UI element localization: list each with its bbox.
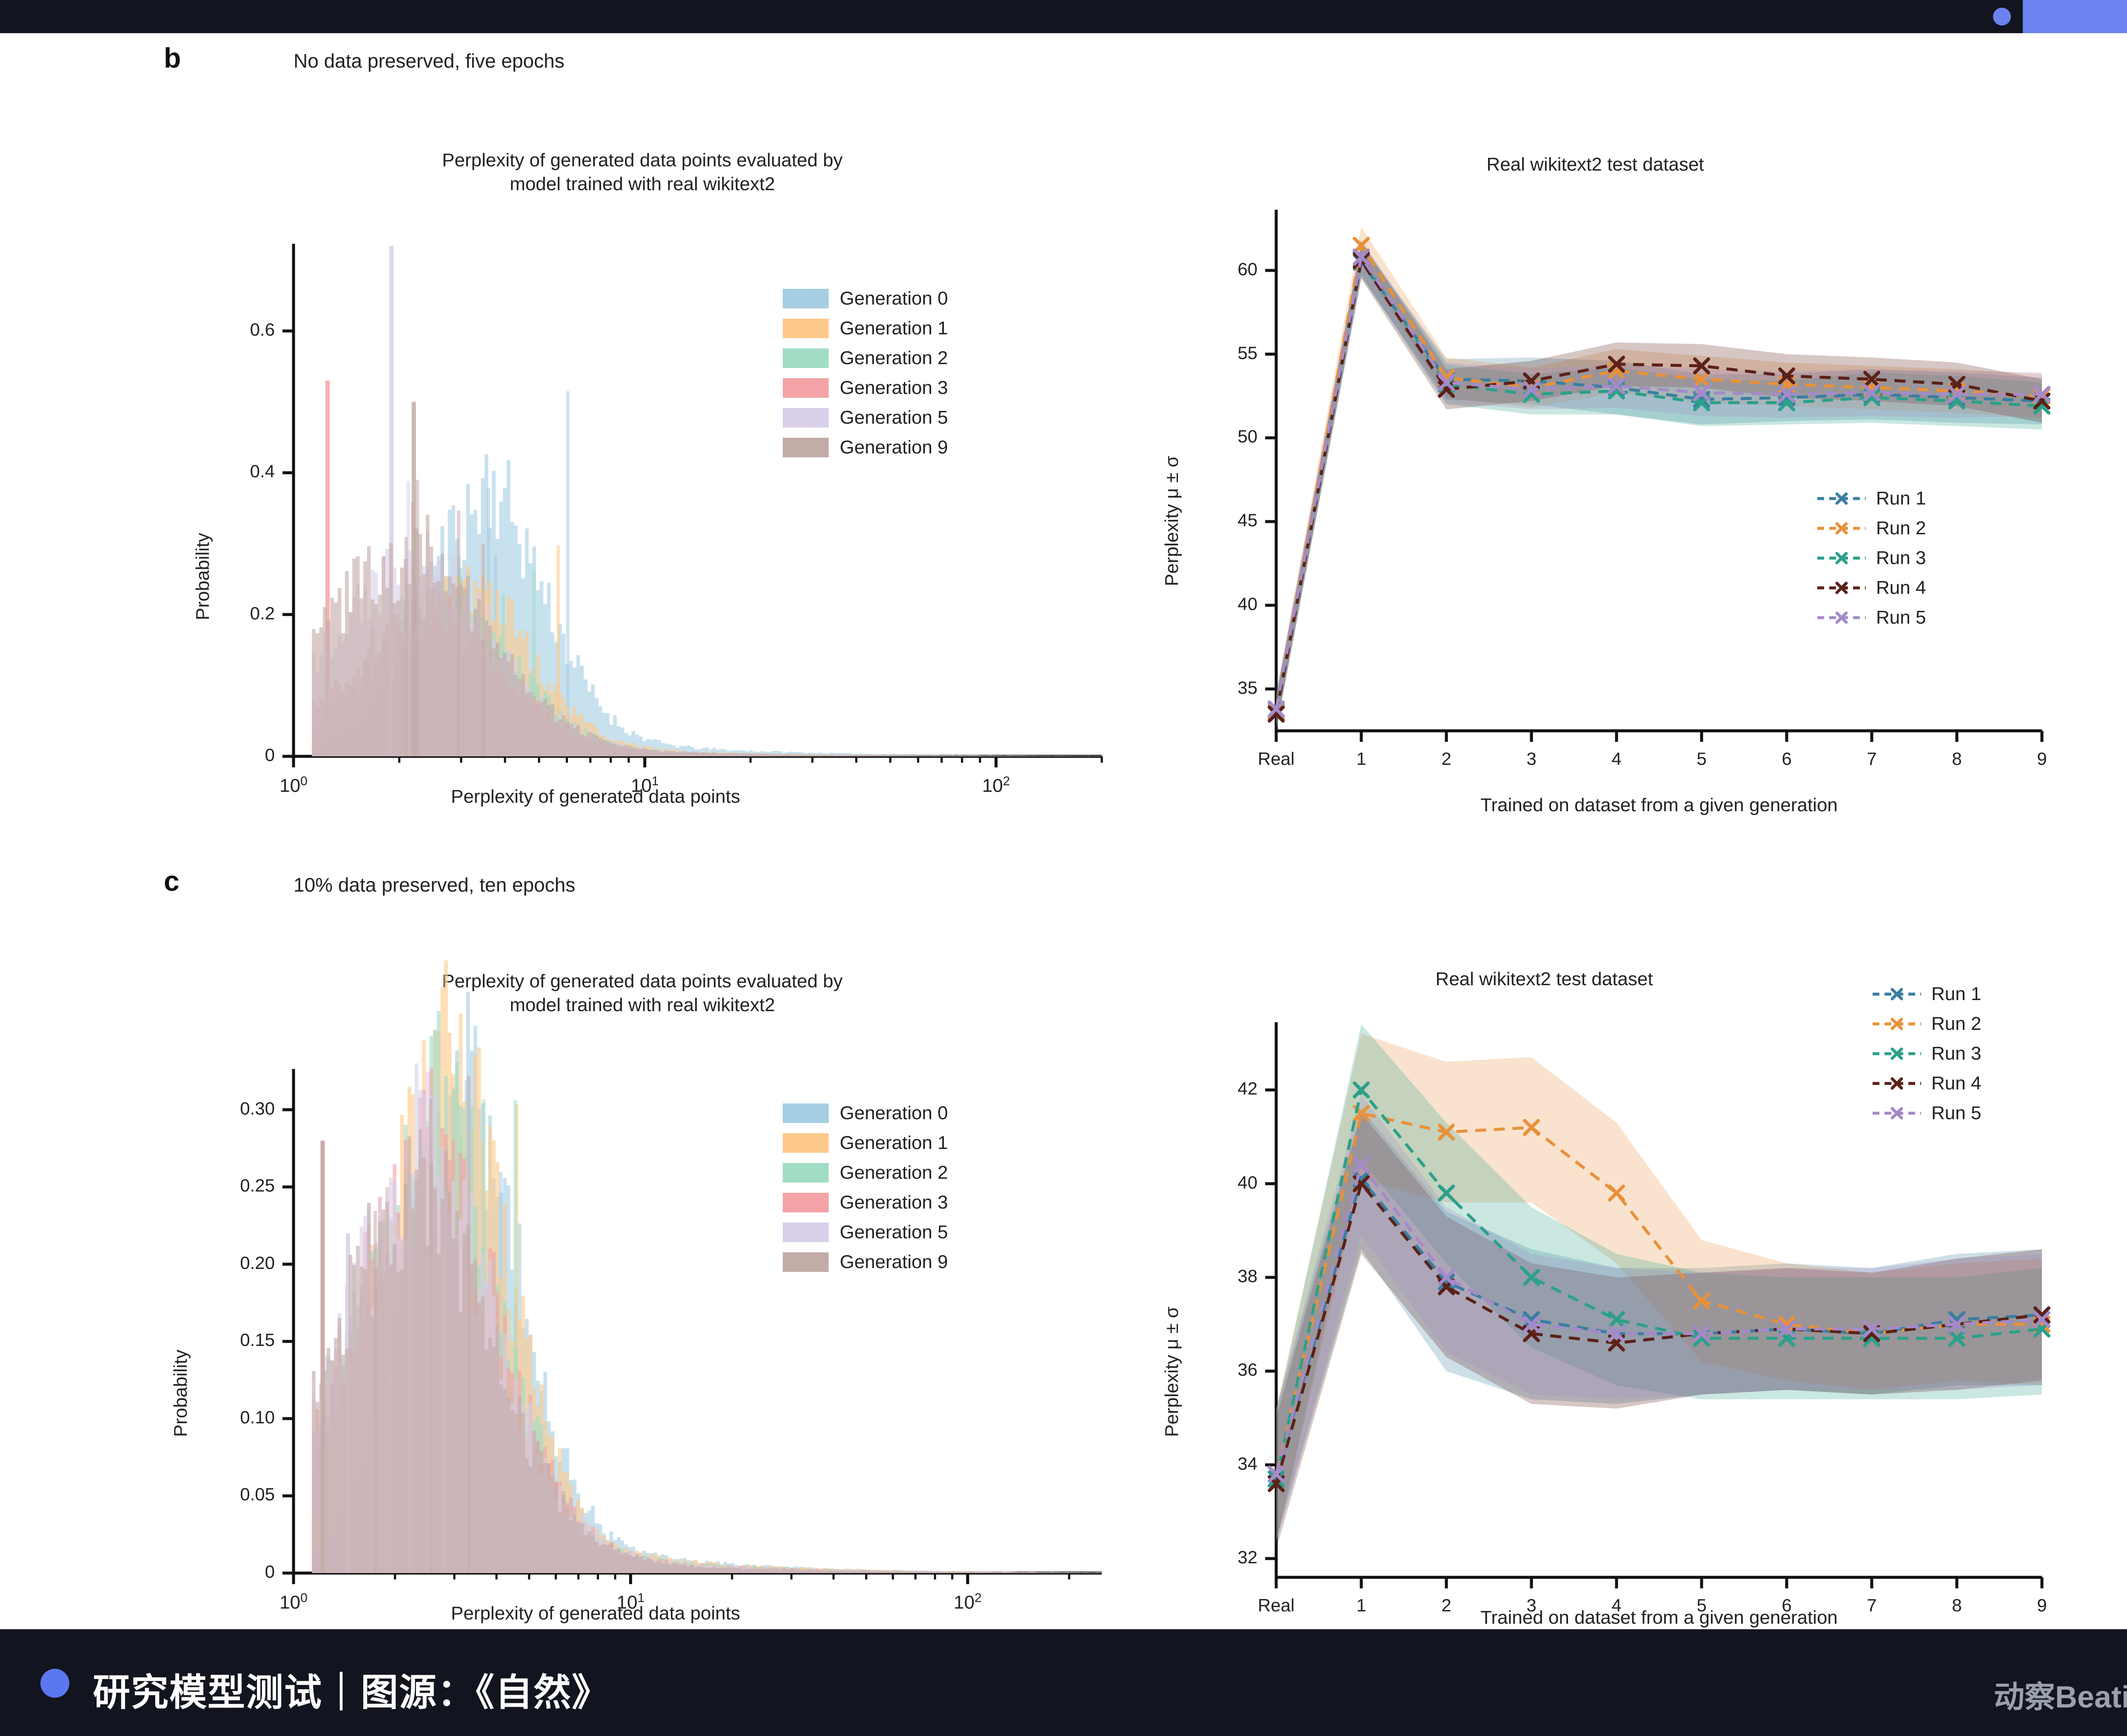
line-chart-svg [1276, 212, 2042, 731]
x-tick-label: 6 [1740, 749, 1833, 769]
panel-b-caption: No data preserved, five epochs [294, 49, 565, 72]
legend-item-run: Run 3 [1872, 1041, 1981, 1066]
y-axis-label-c-left: Probability [170, 1350, 191, 1437]
legend-label: Run 4 [1931, 1073, 1981, 1094]
legend-item-run: Run 2 [1816, 516, 1926, 541]
x-tick-label: 3 [1485, 749, 1578, 769]
legend-item-generation: Generation 0 [783, 286, 948, 311]
legend-item-generation: Generation 2 [783, 1160, 948, 1185]
legend-generations-b-left: Generation 0Generation 1Generation 2Gene… [783, 286, 948, 465]
y-tick-label: 32 [1164, 1547, 1257, 1568]
legend-label: Generation 9 [840, 437, 948, 458]
y-tick-label: 0.2 [164, 603, 275, 624]
y-tick-label: 35 [1164, 678, 1257, 698]
x-tick-label: 102 [921, 1591, 1015, 1613]
y-tick-label: 0.6 [164, 319, 275, 340]
y-tick-label: 0 [164, 745, 275, 765]
legend-swatch-icon [783, 1163, 829, 1183]
panel-letter-c: c [164, 865, 180, 897]
legend-label: Generation 3 [840, 1192, 948, 1213]
x-tick-label: 9 [1995, 749, 2089, 769]
histogram-c-left: 00.050.100.150.200.250.30100101102 [294, 1071, 1102, 1573]
y-tick-label: 50 [1164, 426, 1257, 447]
legend-swatch-icon [783, 1103, 829, 1123]
legend-item-generation: Generation 3 [783, 1190, 948, 1215]
y-tick-label: 55 [1164, 343, 1257, 363]
bottom-banner: 研究模型测试｜图源：《自然》 动察Beating [0, 1629, 2127, 1736]
legend-line-marker-icon [1872, 1014, 1922, 1034]
x-tick-label: Real [1229, 749, 1323, 769]
y-axis-label-b-left: Probability [192, 533, 214, 620]
legend-item-run: Run 1 [1816, 486, 1926, 511]
legend-label: Generation 0 [840, 1103, 948, 1124]
legend-swatch-icon [783, 1223, 829, 1242]
figure-canvas: b No data preserved, five epochs Perplex… [0, 33, 2127, 1629]
y-tick-label: 0.4 [164, 461, 275, 482]
x-tick-label: 2 [1400, 749, 1493, 769]
y-tick-label: 0.25 [164, 1175, 275, 1196]
y-tick-label: 0.15 [164, 1330, 275, 1350]
legend-label: Run 5 [1876, 607, 1926, 628]
legend-item-generation: Generation 2 [783, 346, 948, 371]
legend-item-run: Run 2 [1872, 1012, 1981, 1036]
legend-runs-c-right: Run 1Run 2Run 3Run 4Run 5 [1872, 982, 1981, 1131]
y-axis-label-b-right: Perplexity μ ± σ [1161, 456, 1183, 586]
x-tick-label: 1 [1314, 749, 1408, 769]
legend-label: Generation 1 [840, 318, 948, 339]
y-tick-label: 38 [1164, 1266, 1257, 1286]
legend-swatch-icon [783, 348, 829, 368]
legend-item-generation: Generation 5 [783, 1220, 948, 1245]
legend-label: Generation 9 [840, 1251, 948, 1273]
legend-line-marker-icon [1816, 608, 1867, 627]
chart-title-c-left-line2: model trained with real wikitext2 [264, 993, 1021, 1017]
legend-label: Run 4 [1876, 577, 1926, 599]
x-tick-label: 7 [1825, 749, 1919, 769]
panel-c-caption: 10% data preserved, ten epochs [294, 873, 575, 896]
x-tick-label: 8 [1910, 749, 2004, 769]
legend-swatch-icon [783, 1193, 829, 1212]
top-bar-accent-block [2023, 0, 2127, 33]
x-tick-label: 4 [1570, 749, 1663, 769]
legend-item-run: Run 4 [1816, 576, 1926, 600]
legend-label: Run 3 [1876, 547, 1926, 569]
top-bar [0, 0, 2127, 33]
legend-label: Generation 5 [840, 1222, 948, 1243]
legend-label: Run 5 [1931, 1103, 1981, 1124]
legend-item-generation: Generation 9 [783, 1250, 948, 1274]
legend-item-generation: Generation 0 [783, 1101, 948, 1126]
legend-item-generation: Generation 9 [783, 435, 948, 460]
chart-title-c-left-line1: Perplexity of generated data points eval… [264, 969, 1021, 993]
legend-label: Generation 5 [840, 407, 948, 428]
legend-item-generation: Generation 5 [783, 405, 948, 430]
legend-label: Generation 3 [840, 377, 948, 399]
legend-swatch-icon [783, 1133, 829, 1153]
legend-label: Run 3 [1931, 1043, 1981, 1064]
histogram-b-left: 00.20.40.6100101102 [294, 246, 1102, 756]
y-tick-label: 0 [164, 1562, 275, 1582]
legend-line-marker-icon [1816, 489, 1867, 508]
legend-item-run: Run 5 [1816, 605, 1926, 630]
legend-item-run: Run 4 [1872, 1071, 1981, 1096]
legend-line-marker-icon [1816, 548, 1867, 568]
x-axis-label-b-right: Trained on dataset from a given generati… [1276, 795, 2042, 816]
panel-letter-b: b [164, 42, 181, 74]
legend-label: Run 1 [1931, 983, 1981, 1005]
legend-swatch-icon [783, 378, 829, 398]
legend-line-marker-icon [1816, 519, 1867, 538]
legend-line-marker-icon [1872, 1103, 1922, 1123]
legend-swatch-icon [783, 289, 829, 308]
legend-label: Generation 0 [840, 288, 948, 309]
x-tick-label: 102 [949, 774, 1043, 797]
legend-label: Run 2 [1876, 518, 1926, 539]
x-axis-label-c-right: Trained on dataset from a given generati… [1276, 1607, 2042, 1628]
banner-dot-icon [40, 1669, 69, 1698]
legend-runs-b-right: Run 1Run 2Run 3Run 4Run 5 [1816, 486, 1926, 635]
legend-item-generation: Generation 1 [783, 1131, 948, 1155]
y-tick-label: 42 [1164, 1078, 1257, 1099]
legend-item-generation: Generation 1 [783, 316, 948, 341]
legend-item-run: Run 5 [1872, 1101, 1981, 1126]
legend-swatch-icon [783, 408, 829, 428]
histogram-svg [294, 1071, 1102, 1573]
chart-title-c-right: Real wikitext2 test dataset [1225, 967, 1863, 991]
x-tick-label: 5 [1655, 749, 1748, 769]
chart-title-b-right: Real wikitext2 test dataset [1234, 152, 1957, 177]
legend-label: Generation 2 [840, 1162, 948, 1183]
y-tick-label: 0.30 [164, 1098, 275, 1119]
legend-swatch-icon [783, 319, 829, 338]
legend-item-generation: Generation 3 [783, 376, 948, 400]
legend-label: Generation 1 [840, 1132, 948, 1154]
histogram-svg [294, 246, 1102, 756]
legend-line-marker-icon [1872, 1044, 1922, 1063]
banner-caption: 研究模型测试｜图源：《自然》 [93, 1662, 610, 1716]
legend-generations-c-left: Generation 0Generation 1Generation 2Gene… [783, 1101, 948, 1280]
chart-title-b-left-line1: Perplexity of generated data points eval… [264, 148, 1021, 172]
x-axis-label-c-left: Perplexity of generated data points [264, 1603, 927, 1624]
legend-line-marker-icon [1872, 984, 1922, 1004]
chart-title-b-left-line2: model trained with real wikitext2 [264, 172, 1021, 196]
watermark-logo: 动察Beating [1994, 1672, 2127, 1716]
y-tick-label: 60 [1164, 259, 1257, 279]
y-tick-label: 0.20 [164, 1253, 275, 1273]
legend-swatch-icon [783, 438, 829, 457]
legend-label: Run 1 [1876, 488, 1926, 509]
legend-line-marker-icon [1816, 578, 1867, 598]
line-chart-b-right: 354045505560Real123456789 [1276, 212, 2042, 731]
y-axis-label-c-right: Perplexity μ ± σ [1161, 1306, 1183, 1437]
top-bar-dot-icon [1993, 8, 2011, 26]
legend-label: Generation 2 [840, 348, 948, 369]
y-tick-label: 0.05 [164, 1484, 275, 1505]
y-tick-label: 40 [1164, 1172, 1257, 1193]
x-axis-label-b-left: Perplexity of generated data points [264, 786, 927, 807]
legend-label: Run 2 [1931, 1013, 1981, 1035]
legend-item-run: Run 1 [1872, 982, 1981, 1006]
y-tick-label: 34 [1164, 1454, 1257, 1474]
y-tick-label: 40 [1164, 594, 1257, 614]
legend-line-marker-icon [1872, 1074, 1922, 1093]
legend-swatch-icon [783, 1252, 829, 1272]
legend-item-run: Run 3 [1816, 546, 1926, 570]
